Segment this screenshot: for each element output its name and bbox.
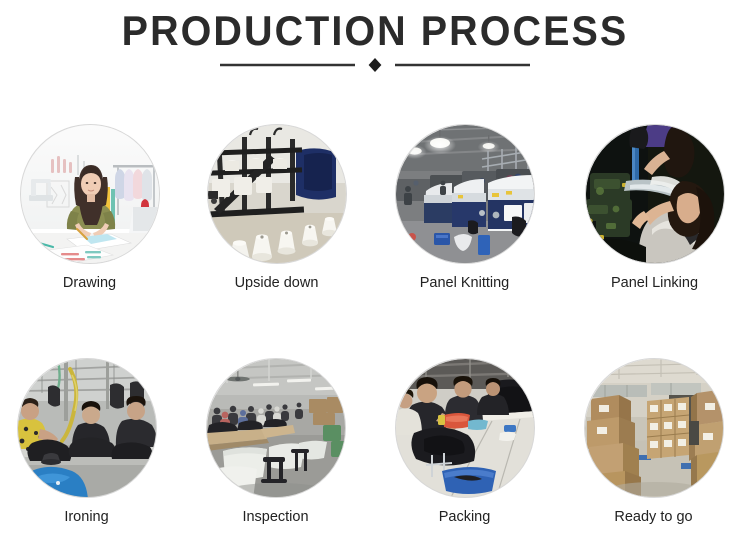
step-item-panel-linking[interactable]: Panel Linking	[567, 124, 742, 292]
inspection-hall-workers-photo	[206, 358, 346, 498]
step-item-drawing[interactable]: Drawing	[2, 124, 177, 292]
step-item-ironing[interactable]: Ironing	[0, 358, 174, 526]
production-process-infographic: PRODUCTION PROCESS	[0, 0, 750, 549]
page-title: PRODUCTION PROCESS	[23, 8, 728, 54]
workers-linking-panels-photo	[585, 124, 725, 264]
step-item-inspection[interactable]: Inspection	[188, 358, 363, 526]
step-item-packing[interactable]: Packing	[377, 358, 552, 526]
knitting-machine-factory-floor-photo	[395, 124, 535, 264]
step-item-upside-down[interactable]: Upside down	[189, 124, 364, 292]
step-image-wrap	[585, 124, 725, 264]
warehouse-cartons-stacked-photo	[584, 358, 724, 498]
step-image-wrap	[207, 124, 347, 264]
step-label: Drawing	[2, 274, 177, 292]
step-item-ready-to-go[interactable]: Ready to go	[566, 358, 741, 526]
step-label: Upside down	[189, 274, 364, 292]
step-label: Panel Knitting	[377, 274, 552, 292]
step-image-wrap	[584, 358, 724, 498]
step-image-wrap	[20, 124, 160, 264]
ironing-station-workers-photo	[17, 358, 157, 498]
step-label: Ready to go	[566, 508, 741, 526]
step-label: Packing	[377, 508, 552, 526]
step-image-wrap	[395, 124, 535, 264]
step-image-wrap	[395, 358, 535, 498]
step-label: Ironing	[0, 508, 174, 526]
designer-drawing-sketches-photo	[20, 124, 160, 264]
packing-line-workers-photo	[395, 358, 535, 498]
step-image-wrap	[206, 358, 346, 498]
diamond-divider-icon	[218, 56, 532, 74]
yarn-winding-machine-spools-photo	[207, 124, 347, 264]
step-item-panel-knitting[interactable]: Panel Knitting	[377, 124, 552, 292]
step-label: Inspection	[188, 508, 363, 526]
step-label: Panel Linking	[567, 274, 742, 292]
header: PRODUCTION PROCESS	[0, 0, 750, 100]
step-image-wrap	[17, 358, 157, 498]
